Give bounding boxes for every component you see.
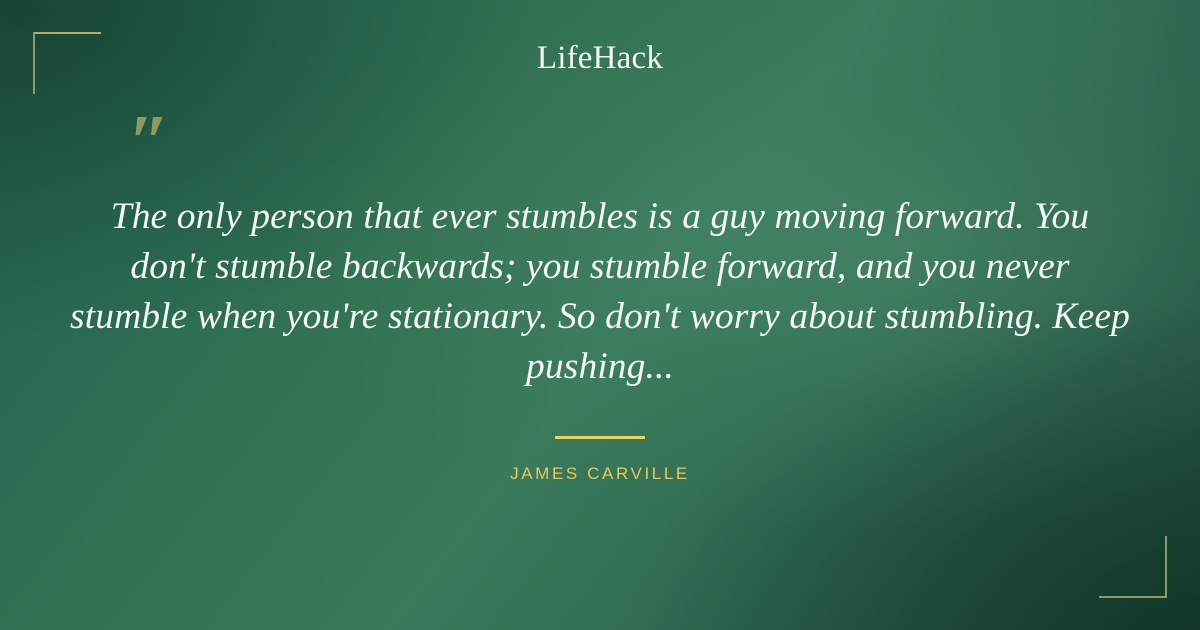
brand-logo: LifeHack	[0, 42, 1200, 75]
quote-text: The only person that ever stumbles is a …	[70, 192, 1130, 392]
quote-card: LifeHack ″ The only person that ever stu…	[0, 0, 1200, 630]
divider	[555, 436, 645, 439]
quote-author: JAMES CARVILLE	[0, 464, 1200, 484]
quotation-mark-icon: ″	[128, 104, 170, 180]
